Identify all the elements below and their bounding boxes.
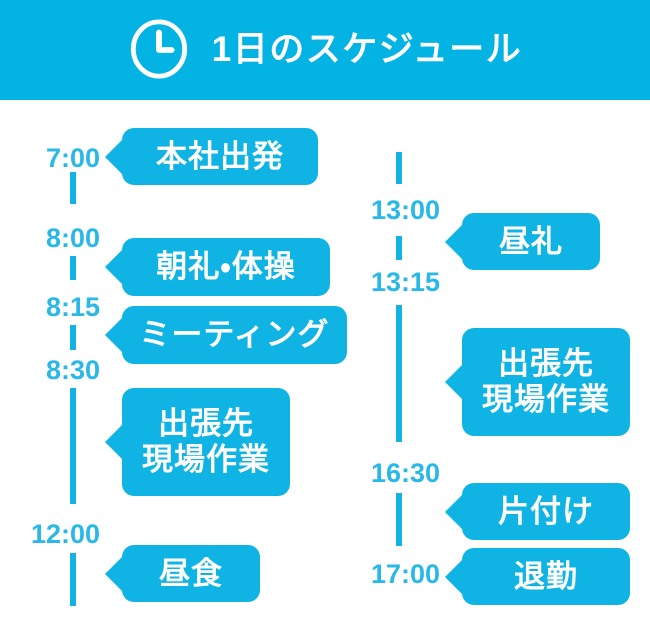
timeline-column-afternoon: 13:00 13:15 16:30 17:00 昼礼 出張先 現場作業 片付け … — [340, 100, 650, 638]
time-label: 13:15 — [340, 269, 440, 296]
timeline-rail-segment — [70, 388, 76, 504]
bubble-tail-icon — [445, 365, 462, 399]
schedule-event-bubble[interactable]: ミーティング — [122, 306, 347, 364]
page-title: 1日のスケジュール — [212, 32, 523, 67]
event-label: 昼礼 — [499, 224, 563, 260]
time-label: 8:15 — [0, 294, 100, 321]
time-label: 16:30 — [340, 460, 440, 487]
schedule-event-bubble[interactable]: 片付け — [462, 483, 630, 540]
timeline-rail-segment — [70, 256, 76, 280]
timeline-column-morning: 7:00 8:00 8:15 8:30 12:00 本社出発 朝礼・体操 ミーテ… — [0, 100, 340, 638]
schedule-event-bubble[interactable]: 出張先 現場作業 — [462, 328, 630, 436]
event-label: ミーティング — [139, 317, 329, 353]
time-label: 7:00 — [0, 145, 100, 172]
event-label: 片付け — [498, 494, 594, 530]
bubble-tail-icon — [105, 425, 122, 459]
event-label: 現場作業 — [482, 382, 610, 418]
bubble-tail-icon — [445, 495, 462, 529]
time-label: 8:30 — [0, 357, 100, 384]
timeline-rail-segment — [396, 152, 402, 184]
timeline-rail-segment — [70, 325, 76, 350]
event-label: 現場作業 — [142, 442, 270, 478]
event-label: 朝礼・体操 — [156, 249, 296, 285]
bubble-tail-icon — [105, 250, 122, 284]
event-label: 出張先 — [158, 406, 254, 442]
schedule-event-bubble[interactable]: 昼礼 — [462, 213, 600, 270]
timeline-rail-segment — [70, 553, 76, 606]
bubble-tail-icon — [105, 140, 122, 174]
schedule-event-bubble[interactable]: 昼食 — [122, 545, 260, 602]
bubble-tail-icon — [105, 318, 122, 352]
time-label: 17:00 — [340, 561, 440, 588]
schedule-event-bubble[interactable]: 本社出発 — [122, 128, 318, 185]
timeline-rail-segment — [396, 493, 402, 546]
schedule-event-bubble[interactable]: 朝礼・体操 — [122, 238, 330, 296]
bubble-tail-icon — [445, 560, 462, 594]
event-label: 昼食 — [159, 556, 223, 592]
event-label: 本社出発 — [156, 139, 284, 175]
bubble-tail-icon — [105, 557, 122, 591]
timeline-rail-segment — [396, 236, 402, 260]
event-label: 退勤 — [514, 559, 578, 595]
clock-icon — [128, 18, 190, 80]
bubble-tail-icon — [445, 225, 462, 259]
schedule-infographic: 1日のスケジュール 7:00 8:00 8:15 8:30 12:00 本社出発… — [0, 0, 650, 638]
time-label: 8:00 — [0, 225, 100, 252]
schedule-event-bubble[interactable]: 出張先 現場作業 — [122, 388, 290, 496]
time-label: 13:00 — [340, 197, 440, 224]
time-label: 12:00 — [0, 521, 100, 548]
schedule-event-bubble[interactable]: 退勤 — [462, 548, 630, 605]
timeline-rail-segment — [396, 305, 402, 442]
header-content: 1日のスケジュール — [128, 18, 523, 80]
timeline-rail-segment — [70, 172, 76, 204]
header-bar: 1日のスケジュール — [0, 0, 650, 100]
event-label: 出張先 — [498, 346, 594, 382]
